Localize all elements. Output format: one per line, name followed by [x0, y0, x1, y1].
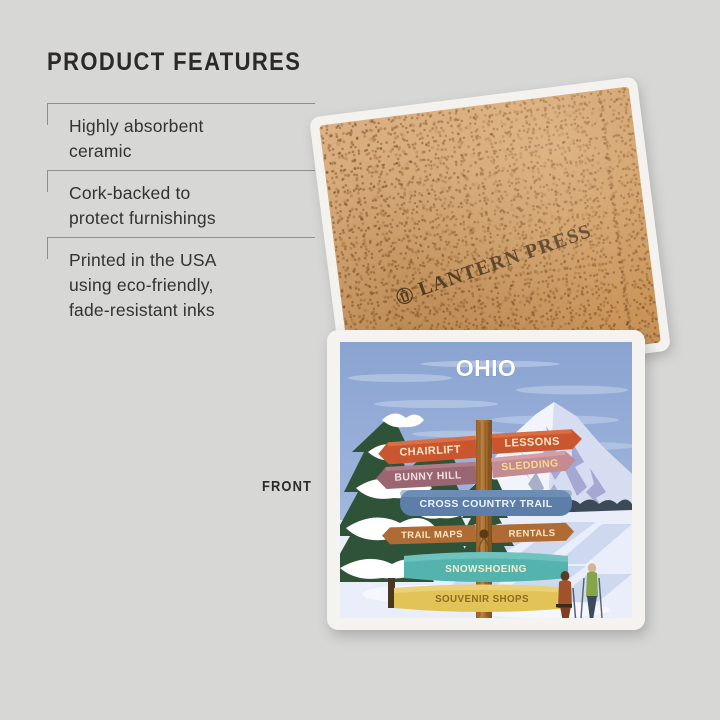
feature-item-2: Cork-backed to protect furnishings — [47, 170, 315, 237]
feature-text: Cork-backed to protect furnishings — [69, 181, 315, 231]
sign-label: RENTALS — [508, 528, 555, 540]
sign-label: TRAIL MAPS — [401, 529, 463, 541]
product-features-panel: PRODUCT FEATURES Highly absorbent cerami… — [47, 48, 315, 329]
sign-label: BUNNY HILL — [394, 469, 462, 483]
sign-label: CROSS COUNTRY TRAIL — [419, 498, 552, 510]
artwork-svg: CHAIRLIFT LESSONS BUNNY HILL — [340, 342, 632, 618]
label-front: FRONT — [262, 478, 312, 495]
feature-item-3: Printed in the USA using eco-friendly, f… — [47, 237, 315, 329]
feature-divider — [47, 237, 315, 238]
feature-tick — [47, 170, 48, 192]
sign-trail-maps: TRAIL MAPS — [382, 525, 476, 545]
feature-text: Highly absorbent ceramic — [69, 114, 315, 164]
sign-label: LESSONS — [504, 436, 560, 450]
sign-label: SNOWSHOEING — [445, 564, 527, 575]
sign-snowshoeing: SNOWSHOEING — [404, 552, 568, 582]
product-feature-sheet: PRODUCT FEATURES Highly absorbent cerami… — [0, 0, 720, 720]
coaster-front-view: CHAIRLIFT LESSONS BUNNY HILL — [327, 330, 645, 630]
feature-text: Printed in the USA using eco-friendly, f… — [69, 248, 315, 323]
sign-cross-country-trail: CROSS COUNTRY TRAIL — [400, 490, 572, 516]
sign-rentals: RENTALS — [492, 523, 574, 543]
feature-divider — [47, 170, 315, 171]
feature-item-1: Highly absorbent ceramic — [47, 103, 315, 170]
artwork-title: OHIO — [456, 355, 516, 381]
brand-name: LANTERN PRESS — [416, 220, 595, 302]
lantern-icon — [394, 284, 416, 308]
sign-souvenir-shops: SOUVENIR SHOPS — [394, 585, 570, 613]
page-title: PRODUCT FEATURES — [47, 48, 283, 77]
feature-divider — [47, 103, 315, 104]
lantern-press-logo: LANTERN PRESS — [393, 220, 595, 309]
tree-trunk — [388, 578, 395, 608]
feature-tick — [47, 237, 48, 259]
feature-tick — [47, 103, 48, 125]
coaster-artwork: CHAIRLIFT LESSONS BUNNY HILL — [340, 342, 632, 618]
sign-label: SOUVENIR SHOPS — [435, 594, 529, 605]
